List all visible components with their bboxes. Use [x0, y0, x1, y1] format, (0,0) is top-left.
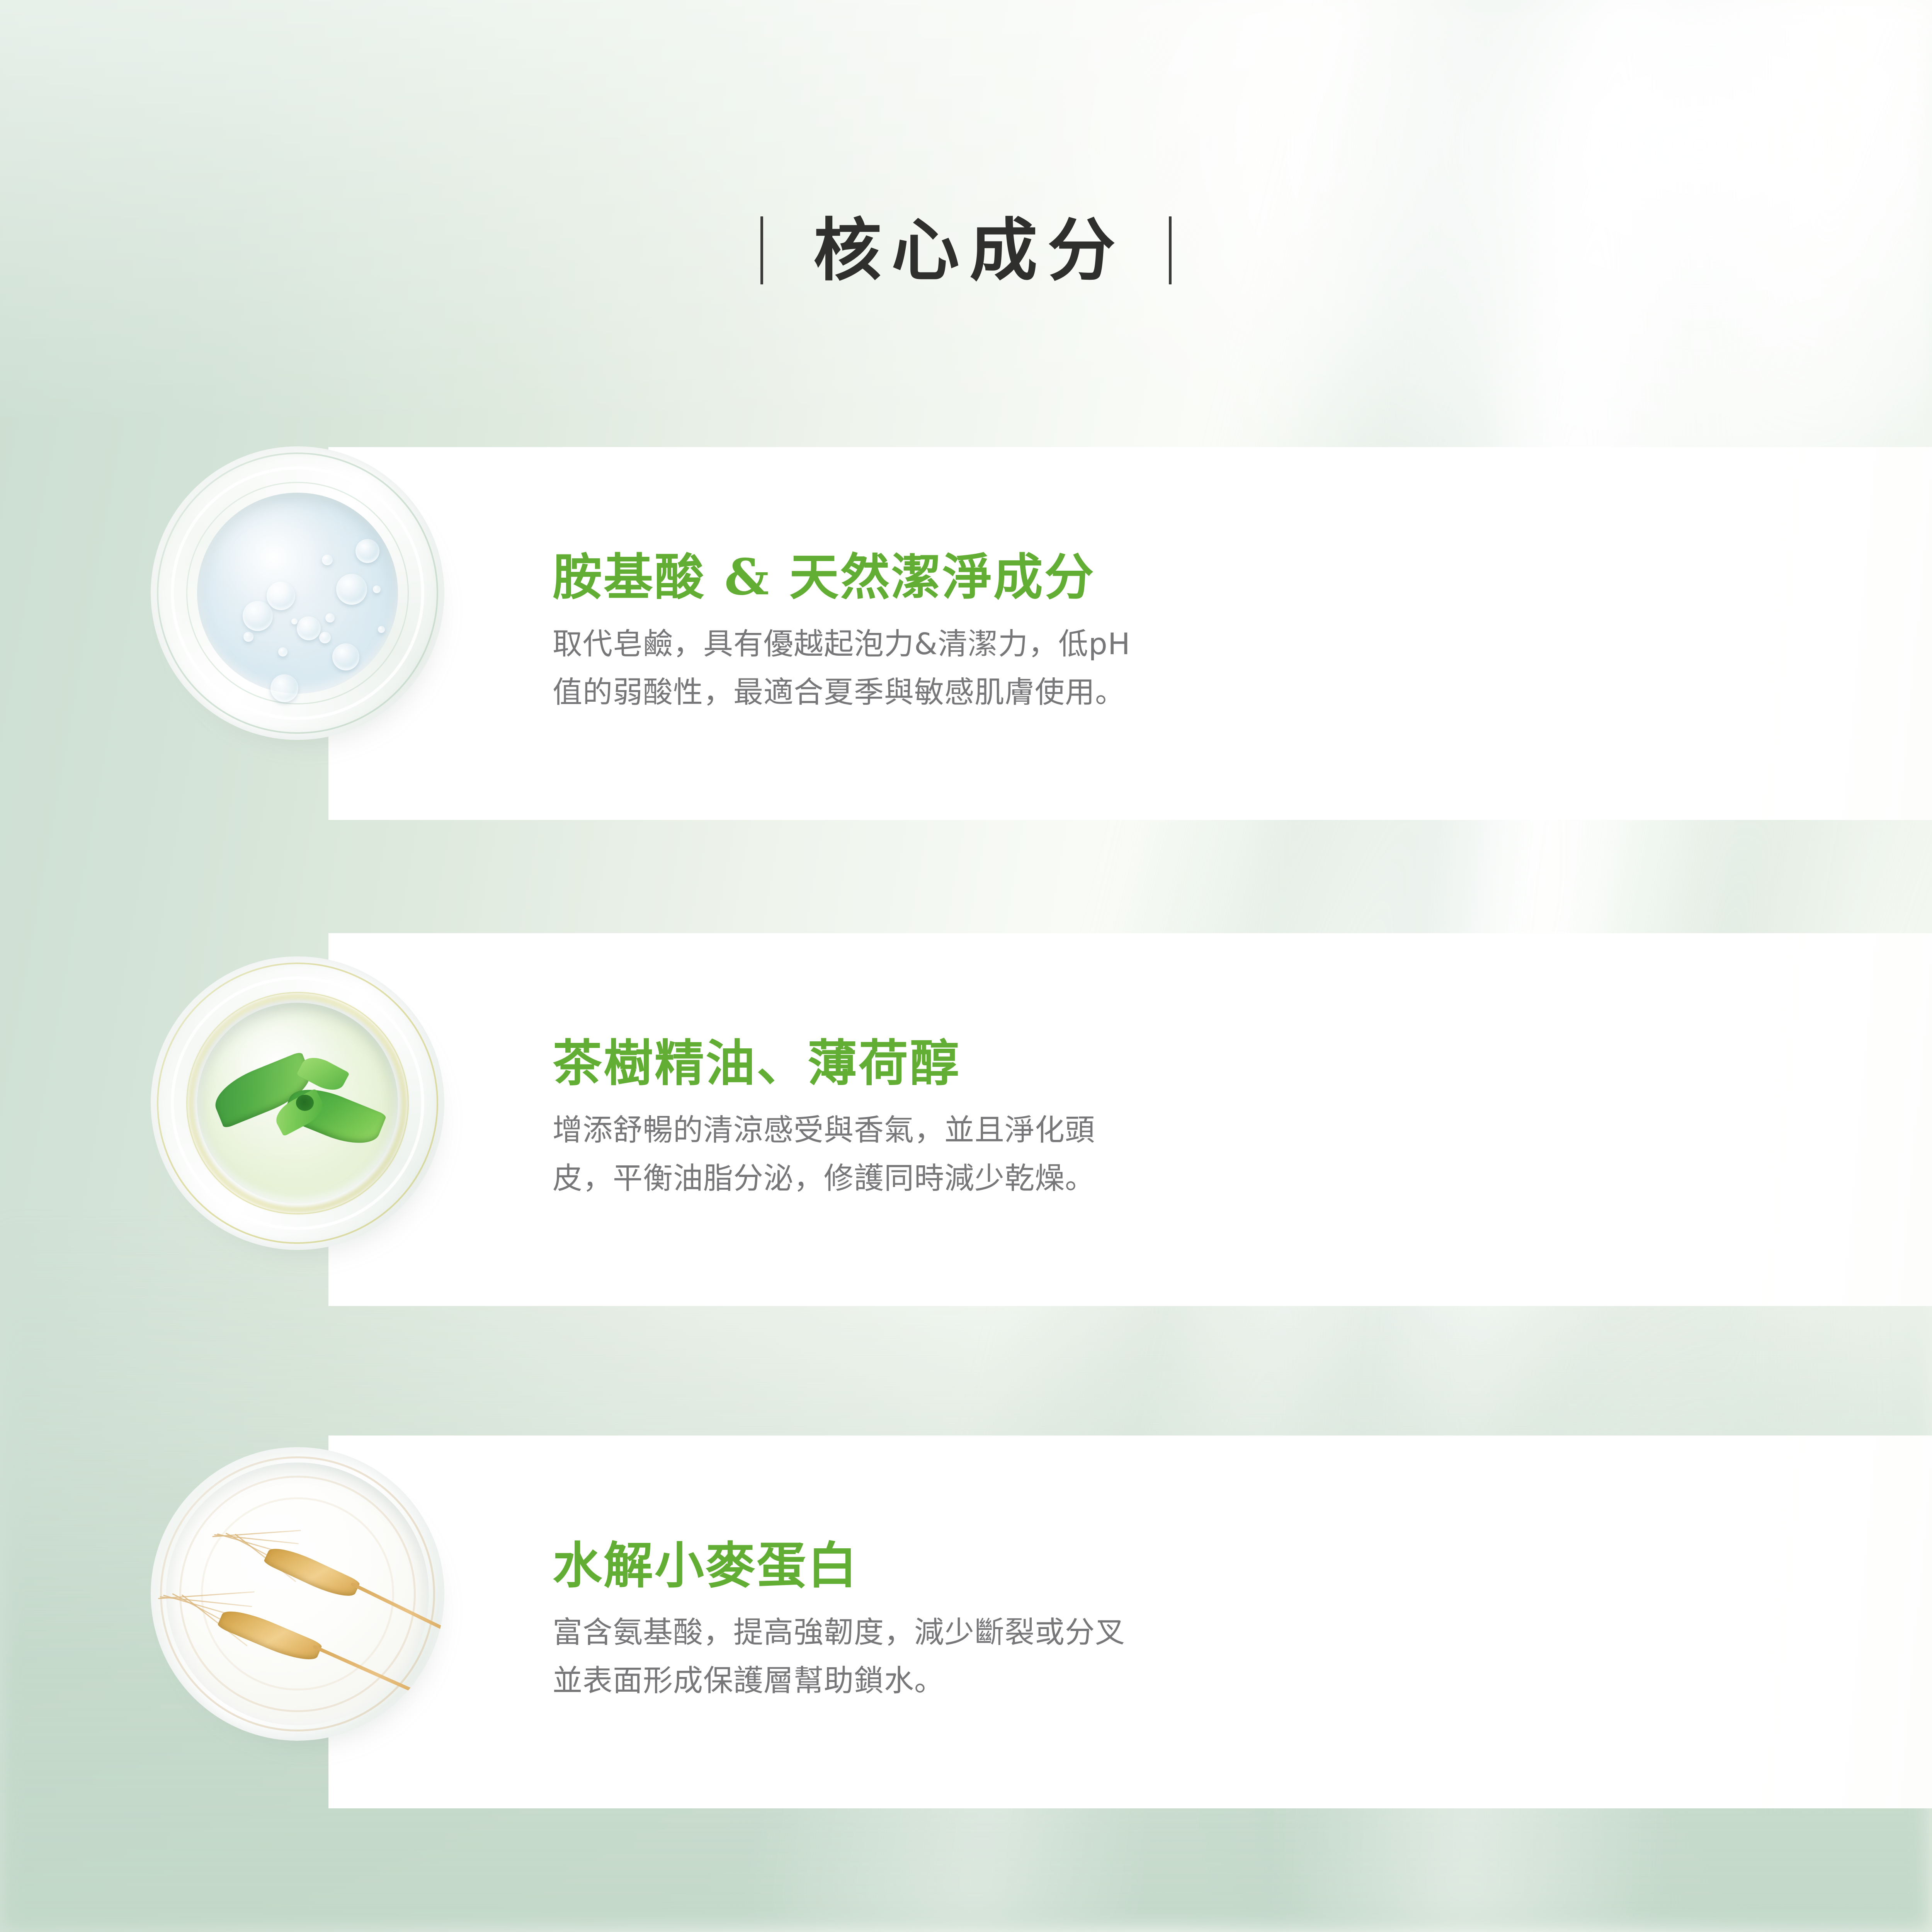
ingredient-card: 茶樹精油、薄荷醇 增添舒暢的清涼感受與香氣，並且淨化頭 皮，平衡油脂分泌，修護同… — [328, 933, 1932, 1306]
ingredient-card-text: 水解小麥蛋白 富含氨基酸，提高強韌度，減少斷裂或分叉 並表面形成保護層幫助鎖水。 — [553, 1435, 1886, 1808]
page-header: 核心成分 — [0, 216, 1932, 284]
ingredient-description: 取代皂鹼，具有優越起泡力&清潔力，低pH 值的弱酸性，最適合夏季與敏感肌膚使用。 — [553, 621, 1886, 717]
ingredient-infographic: 核心成分 胺基酸 & 天然潔淨成分 取代皂鹼，具有優越起泡力&清潔力，低pH 值… — [0, 0, 1932, 1932]
water-droplet-icon — [373, 585, 381, 593]
petri-dish — [151, 446, 444, 740]
petri-dish — [151, 956, 444, 1250]
water-droplet-icon — [267, 582, 295, 610]
water-droplet-icon — [322, 554, 333, 565]
ingredient-description-line: 取代皂鹼，具有優越起泡力&清潔力，低pH — [553, 621, 1886, 669]
ingredient-description-line: 皮，平衡油脂分泌，修護同時減少乾燥。 — [553, 1155, 1886, 1203]
ingredient-description: 增添舒暢的清涼感受與香氣，並且淨化頭 皮，平衡油脂分泌，修護同時減少乾燥。 — [553, 1107, 1886, 1203]
ingredient-card-text: 茶樹精油、薄荷醇 增添舒暢的清涼感受與香氣，並且淨化頭 皮，平衡油脂分泌，修護同… — [553, 933, 1886, 1306]
ingredient-image-blue-gel — [151, 446, 456, 752]
wheat-ear — [263, 1541, 361, 1604]
mint-leaf-icon — [209, 1037, 390, 1177]
page-title: 核心成分 — [806, 216, 1126, 284]
ingredient-description-line: 富含氨基酸，提高強韌度，減少斷裂或分叉 — [553, 1609, 1886, 1657]
mint-stem-node — [296, 1095, 314, 1111]
ingredient-card: 水解小麥蛋白 富含氨基酸，提高強韌度，減少斷裂或分叉 並表面形成保護層幫助鎖水。 — [328, 1435, 1932, 1808]
ingredient-title: 水解小麥蛋白 — [553, 1538, 1886, 1594]
ingredient-image-mint-oil — [151, 956, 456, 1262]
water-droplet-icon — [332, 643, 359, 670]
ingredient-card: 胺基酸 & 天然潔淨成分 取代皂鹼，具有優越起泡力&清潔力，低pH 值的弱酸性，… — [328, 447, 1932, 820]
ingredient-description: 富含氨基酸，提高強韌度，減少斷裂或分叉 並表面形成保護層幫助鎖水。 — [553, 1609, 1886, 1705]
water-droplet-icon — [325, 613, 335, 622]
ingredient-title: 茶樹精油、薄荷醇 — [553, 1036, 1886, 1091]
water-droplet-icon — [278, 647, 287, 656]
wheat-stem — [350, 1582, 444, 1636]
water-droplet-icon — [291, 618, 298, 624]
water-droplet-icon — [319, 632, 331, 643]
ingredient-description-line: 值的弱酸性，最適合夏季與敏感肌膚使用。 — [553, 669, 1886, 717]
ingredient-title: 胺基酸 & 天然潔淨成分 — [553, 550, 1886, 605]
water-droplet-icon — [297, 616, 321, 640]
water-droplet-icon — [378, 626, 385, 633]
title-right-rule-icon — [1169, 216, 1172, 284]
water-droplet-icon — [270, 674, 298, 702]
water-droplet-icon — [243, 601, 273, 631]
glass-plate — [151, 1447, 444, 1741]
water-droplet-icon — [336, 574, 367, 605]
ingredient-image-wheat — [151, 1447, 456, 1752]
water-droplet-icon — [243, 632, 253, 642]
ingredient-card-text: 胺基酸 & 天然潔淨成分 取代皂鹼，具有優越起泡力&清潔力，低pH 值的弱酸性，… — [553, 447, 1886, 820]
wheat-stalk-icon — [151, 1447, 444, 1741]
ingredient-description-line: 增添舒暢的清涼感受與香氣，並且淨化頭 — [553, 1107, 1886, 1155]
wheat-stem — [313, 1645, 430, 1699]
ingredient-description-line: 並表面形成保護層幫助鎖水。 — [553, 1657, 1886, 1706]
title-left-rule-icon — [760, 216, 763, 284]
blue-gel-liquid — [197, 493, 398, 694]
water-droplet-icon — [355, 539, 379, 563]
